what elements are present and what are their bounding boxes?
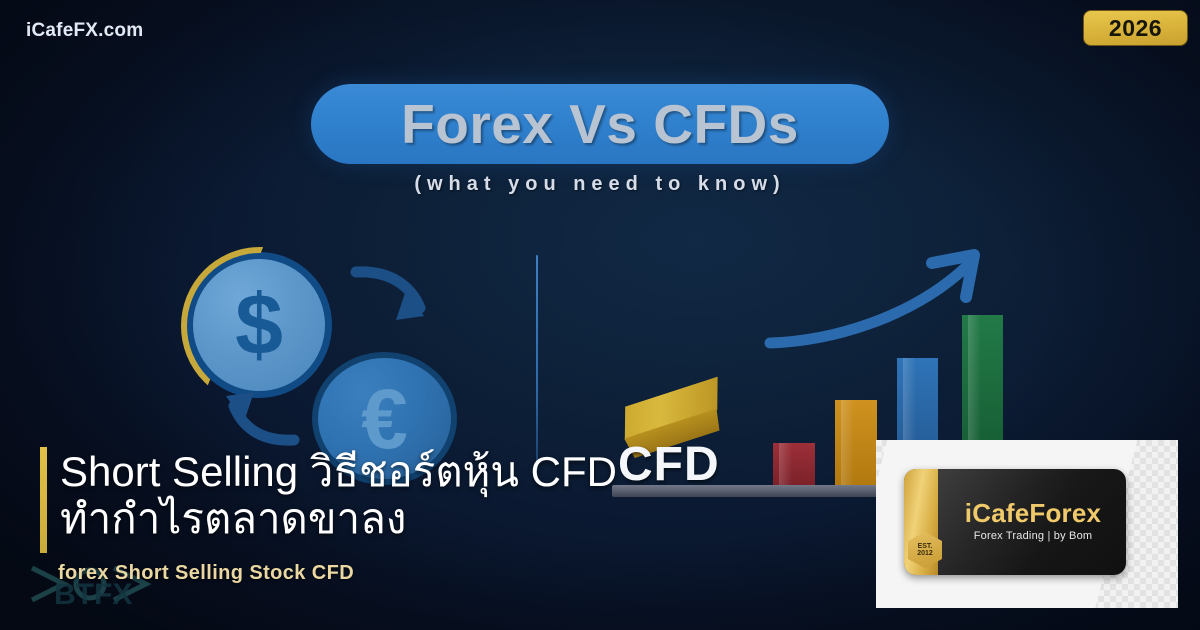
headline-accent-rule — [40, 447, 47, 553]
logo-card: iCafeForex Forex Trading | by Bom EST. 2… — [904, 469, 1126, 575]
logo-panel: iCafeForex Forex Trading | by Bom EST. 2… — [876, 440, 1178, 608]
center-divider — [536, 255, 538, 470]
year-badge-label: 2026 — [1109, 15, 1162, 42]
page-title: Short Selling วิธีชอร์ตหุ้น CFD ทำกำไรตล… — [60, 448, 860, 543]
banner-title-pill: Forex Vs CFDs — [311, 84, 889, 164]
banner-title-text: Forex Vs CFDs — [401, 92, 799, 156]
year-badge: 2026 — [1083, 10, 1188, 46]
est-badge-top: EST. — [918, 543, 933, 550]
headline-line-1: Short Selling วิธีชอร์ตหุ้น CFD — [60, 448, 617, 495]
headline-line-2: ทำกำไรตลาดขาลง — [60, 495, 860, 542]
growth-trend-arrow-icon — [760, 245, 1000, 365]
est-badge-year: 2012 — [917, 550, 933, 557]
banner-subtitle: (what you need to know) — [0, 173, 1200, 196]
headline-kicker: forex Short Selling Stock CFD — [58, 562, 354, 585]
site-url: iCafeFX.com — [26, 20, 143, 42]
poster-canvas: iCafeFX.com 2026 Forex Vs CFDs (what you… — [0, 0, 1200, 630]
logo-tagline: Forex Trading | by Bom — [948, 530, 1118, 542]
logo-brand-name: iCafeForex — [948, 498, 1118, 529]
